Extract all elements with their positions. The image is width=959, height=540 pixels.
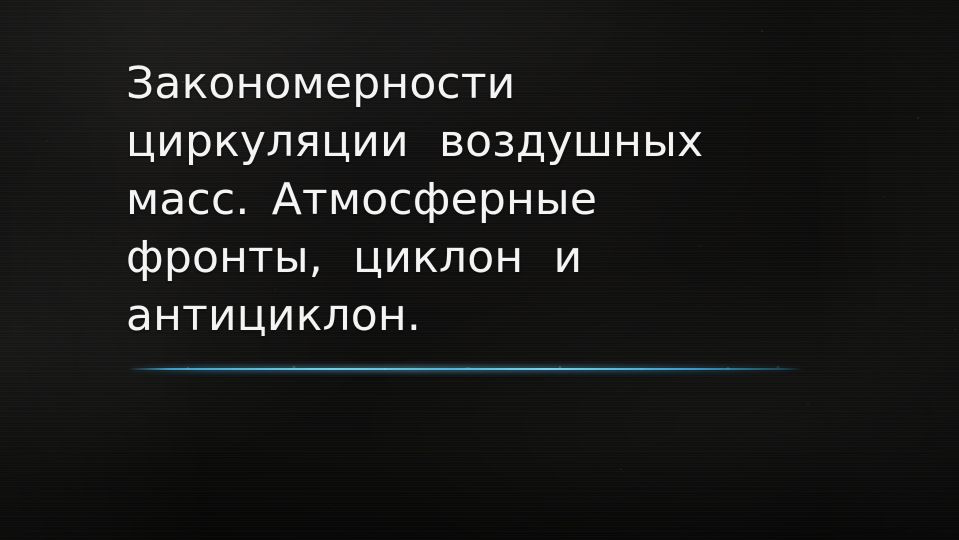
underline-chalk-flecks [130, 366, 802, 372]
title-line-4: фронты, циклон и [126, 229, 736, 287]
title-line-2: циркуляции воздушных [126, 113, 736, 171]
page-title: Закономерности циркуляции воздушных масс… [126, 55, 736, 345]
title-slide: Закономерности циркуляции воздушных масс… [0, 0, 959, 540]
title-line-5: антициклон. [126, 287, 736, 345]
title-underline-divider [130, 362, 802, 376]
title-line-1: Закономерности [126, 55, 736, 113]
title-line-3: масс. Атмосферные [126, 171, 736, 229]
